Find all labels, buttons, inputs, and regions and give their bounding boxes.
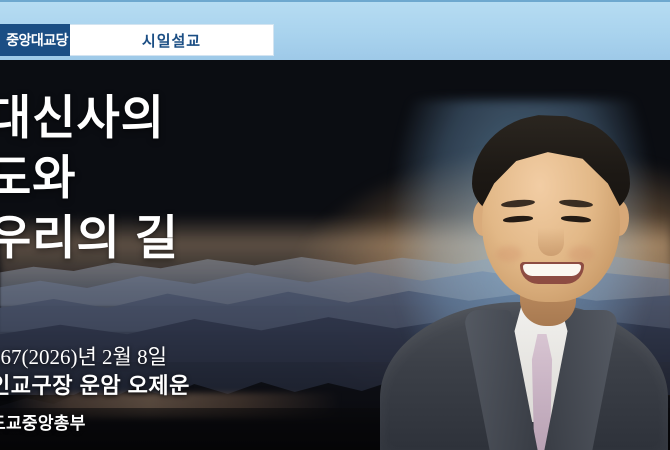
speaker-portrait: [372, 96, 670, 450]
speaker-name: 인교구장 운암 오제운: [0, 371, 420, 401]
nose: [538, 228, 564, 256]
headline-line-3: 우리의 길: [0, 208, 418, 268]
footer-credits: 167(2026)년 2월 8일 인교구장 운암 오제운 도교중앙총부: [0, 343, 420, 436]
top-blue-band: 중앙대교당 시일설교: [0, 0, 670, 60]
sermon-banner: 중앙대교당 시일설교 대신사의 도와 우리의 길 167(2026)년 2월 8…: [0, 0, 670, 450]
tab-strip: 중앙대교당 시일설교: [0, 24, 274, 56]
headline-line-2: 도와: [0, 148, 418, 208]
organization-name: 도교중앙총부: [0, 412, 420, 436]
sermon-date: 167(2026)년 2월 8일: [0, 343, 420, 371]
headline: 대신사의 도와 우리의 길: [0, 88, 418, 268]
tab-sermon[interactable]: 시일설교: [70, 24, 274, 56]
cheek-left: [496, 246, 522, 262]
cheek-right: [568, 246, 594, 262]
tab-church[interactable]: 중앙대교당: [0, 24, 70, 56]
teeth: [523, 264, 581, 276]
mouth: [520, 262, 584, 284]
headline-line-1: 대신사의: [0, 88, 418, 148]
